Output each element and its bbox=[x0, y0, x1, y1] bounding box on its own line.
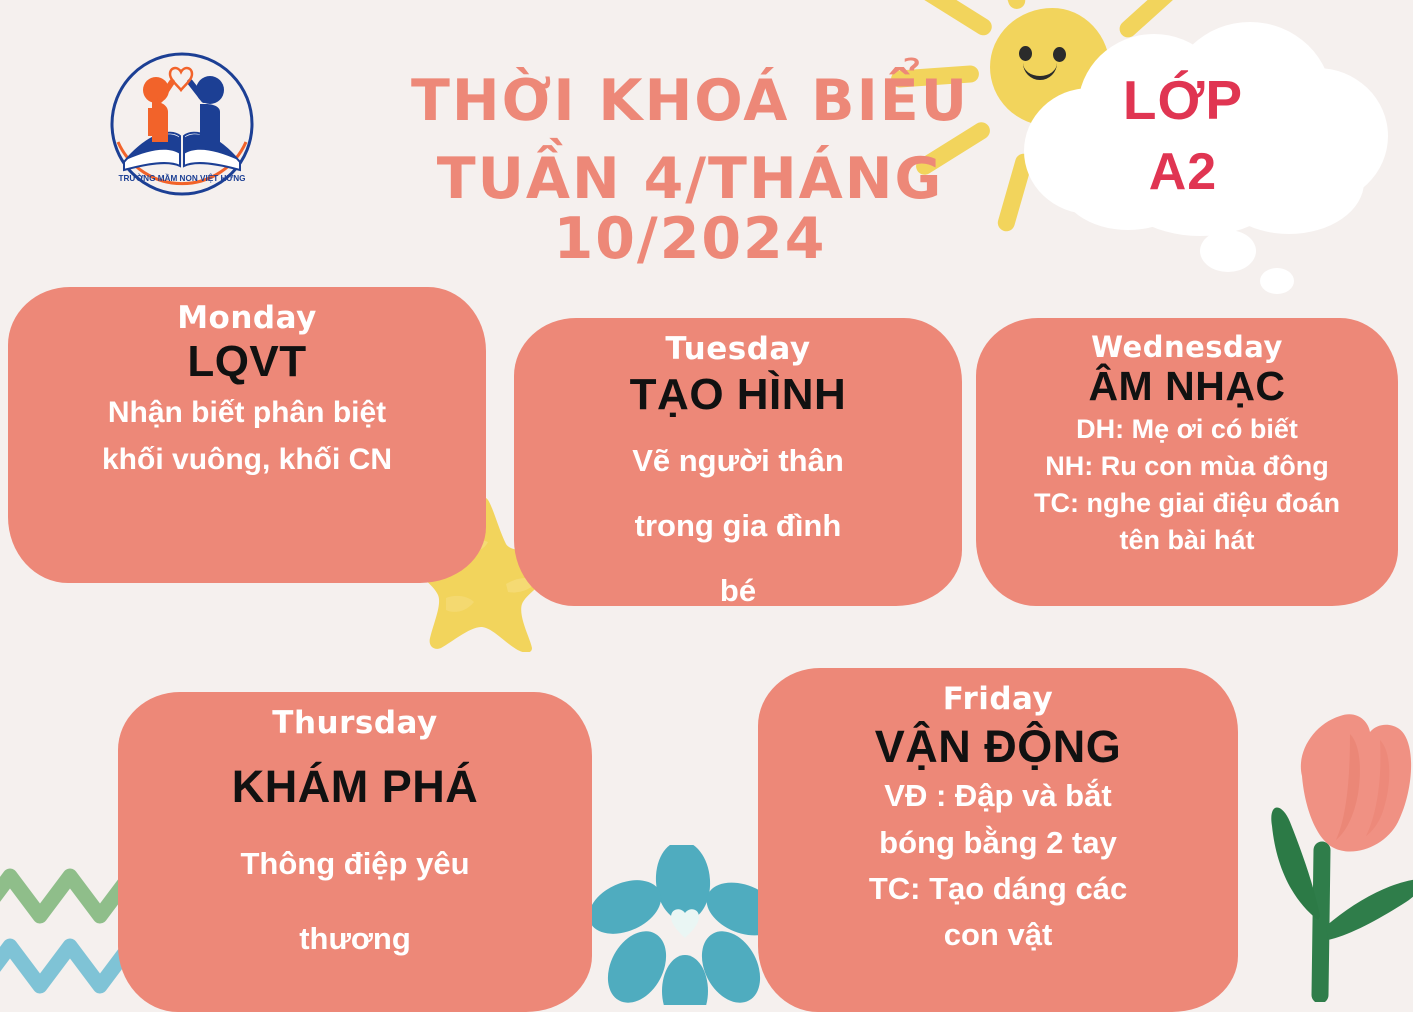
day-label: Wednesday bbox=[996, 332, 1378, 364]
detail-line: Vẽ người thân bbox=[534, 439, 942, 484]
detail-line: khối vuông, khối CN bbox=[28, 441, 466, 479]
detail-line: tên bài hát bbox=[996, 523, 1378, 558]
day-label: Thursday bbox=[138, 706, 572, 740]
subject-label: LQVT bbox=[28, 337, 466, 386]
detail-line: DH: Mẹ ơi có biết bbox=[996, 412, 1378, 447]
title-line-1: THỜI KHOÁ BIỂU bbox=[330, 72, 1050, 132]
title-line-2: TUẦN 4/THÁNG 10/2024 bbox=[330, 150, 1050, 270]
flower-icon bbox=[585, 845, 785, 1005]
class-label-line2: A2 bbox=[1018, 146, 1348, 199]
detail-line: bóng bằng 2 tay bbox=[778, 821, 1218, 865]
detail-line: trong gia đình bbox=[534, 504, 942, 549]
detail-line: Nhận biết phân biệt bbox=[28, 394, 466, 432]
tulip-icon bbox=[1230, 690, 1413, 1002]
cloud-icon: LỚP A2 bbox=[1018, 20, 1413, 290]
detail-line: Thông điệp yêu bbox=[138, 842, 572, 886]
kindergarten-logo-icon: TRƯỜNG MẦM NON VIỆT HƯNG bbox=[108, 50, 256, 198]
subject-label: ÂM NHẠC bbox=[996, 364, 1378, 410]
schedule-card-tuesday[interactable]: Tuesday TẠO HÌNH Vẽ người thân trong gia… bbox=[514, 318, 962, 606]
schedule-card-wednesday[interactable]: Wednesday ÂM NHẠC DH: Mẹ ơi có biết NH: … bbox=[976, 318, 1398, 606]
detail-line: TC: Tạo dáng các bbox=[778, 867, 1218, 911]
subject-label: KHÁM PHÁ bbox=[138, 762, 572, 812]
class-label-line1: LỚP bbox=[1018, 72, 1348, 128]
poster-canvas: LỚP A2 bbox=[0, 0, 1413, 1000]
schedule-card-friday[interactable]: Friday VẬN ĐỘNG VĐ : Đập và bắt bóng bằn… bbox=[758, 668, 1238, 1012]
day-label: Friday bbox=[778, 682, 1218, 716]
subject-label: VẬN ĐỘNG bbox=[778, 722, 1218, 772]
day-label: Monday bbox=[28, 301, 466, 335]
sun-eye-left bbox=[1019, 46, 1032, 61]
detail-line: con vật bbox=[778, 913, 1218, 957]
day-label: Tuesday bbox=[534, 332, 942, 366]
subject-label: TẠO HÌNH bbox=[534, 370, 942, 419]
logo-school-name: TRƯỜNG MẦM NON VIỆT HƯNG bbox=[118, 172, 245, 183]
detail-line: bé bbox=[534, 569, 942, 614]
detail-line: NH: Ru con mùa đông bbox=[996, 449, 1378, 484]
page-title: THỜI KHOÁ BIỂU TUẦN 4/THÁNG 10/2024 bbox=[330, 72, 1050, 270]
schedule-card-thursday[interactable]: Thursday KHÁM PHÁ Thông điệp yêu thương bbox=[118, 692, 592, 1012]
detail-line: VĐ : Đập và bắt bbox=[778, 774, 1218, 818]
class-label: LỚP A2 bbox=[1018, 72, 1348, 199]
sun-eye-right bbox=[1053, 47, 1066, 62]
detail-line: thương bbox=[138, 917, 572, 961]
schedule-card-monday[interactable]: Monday LQVT Nhận biết phân biệt khối vuô… bbox=[8, 287, 486, 583]
detail-line: TC: nghe giai điệu đoán bbox=[996, 486, 1378, 521]
